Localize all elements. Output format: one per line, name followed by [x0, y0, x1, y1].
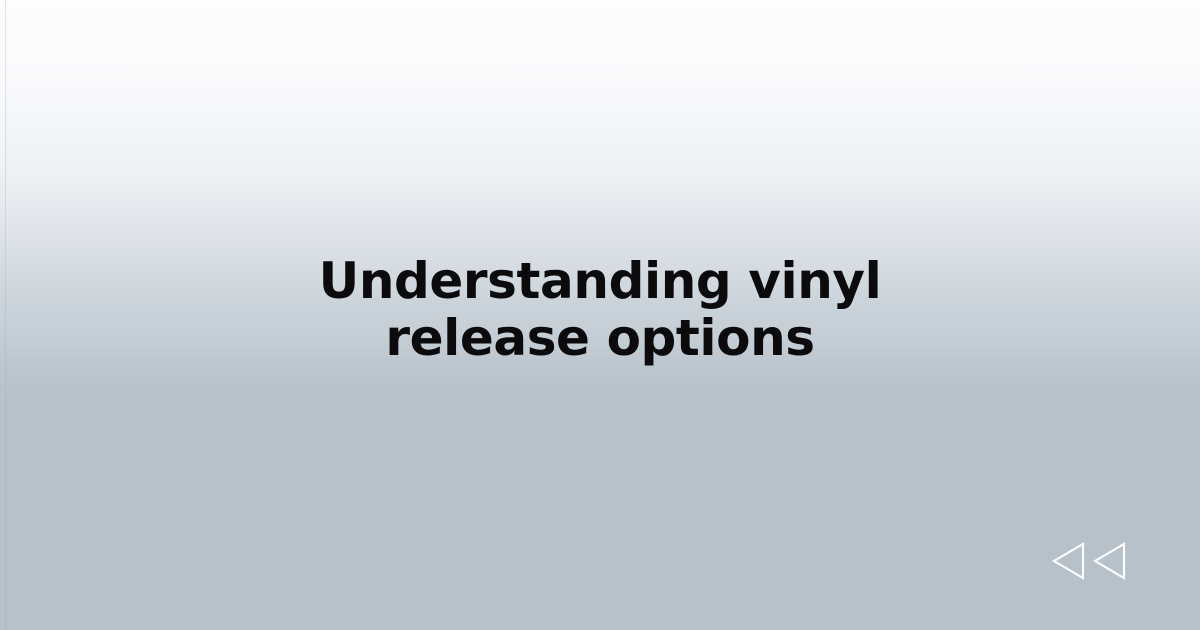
headline-container: Understanding vinyl release options	[0, 0, 1200, 630]
page-title: Understanding vinyl release options	[250, 253, 950, 377]
hero-banner: Understanding vinyl release options	[0, 0, 1200, 630]
rewind-button[interactable]	[1050, 540, 1132, 582]
rewind-double-left-icon	[1050, 541, 1128, 581]
